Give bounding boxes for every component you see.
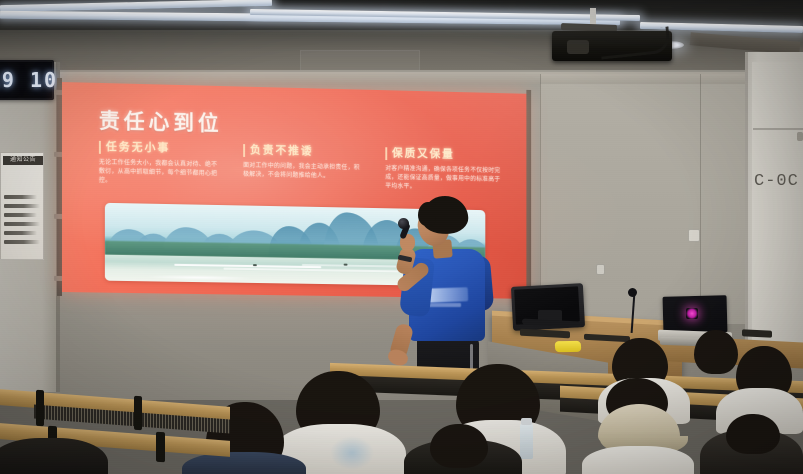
classroom-door[interactable]: [752, 62, 803, 352]
slide-title: 责任心到位: [99, 105, 223, 138]
slide-column-heading: 保质又保量: [385, 147, 502, 162]
slide-columns: 任务无小事 无论工作任务大小，我都会认真对待、绝不敷衍，从高中抓取细节，每个细节…: [99, 141, 503, 194]
audience-head: [694, 330, 738, 374]
desk-post: [156, 432, 165, 463]
wall-socket: [596, 264, 605, 275]
desk-post: [134, 396, 142, 431]
digital-clock: 19 10: [0, 60, 54, 100]
audience-head: [726, 414, 780, 454]
slide-column-heading: 任务无小事: [99, 141, 220, 157]
yellow-object-on-desk: [555, 341, 582, 352]
slide-column-body: 面对工作中的问题，我会主动承担责任，积极解决，不会将问题推给他人。: [243, 162, 362, 182]
ceiling-panel: [300, 50, 420, 72]
ceiling: [0, 0, 803, 74]
desk-post: [36, 390, 44, 427]
wall-socket: [688, 229, 700, 242]
slide-column-heading: 负责不推诿: [243, 144, 362, 159]
handheld-microphone: [398, 218, 409, 229]
door-handle[interactable]: [797, 132, 803, 141]
poster-title: 通知公告: [3, 156, 43, 165]
presenter: [392, 196, 504, 386]
slide-column: 任务无小事 无论工作任务大小，我都会认真对待、绝不敷衍，从高中抓取细节，每个细节…: [99, 141, 220, 188]
audience-body: [0, 438, 108, 474]
projector-lens: [567, 40, 589, 54]
presenter-hair-front: [418, 202, 436, 226]
audience-head: [430, 424, 488, 468]
slide-column-body: 对客户精准沟通，确保各项任务不仅按时完成，还能保证高质量，做事用中的标准高于平均…: [385, 165, 502, 194]
laptop-logo-icon: [686, 308, 698, 319]
water-bottle: [520, 423, 533, 459]
lecture-hall-photo: 通知公告 19 10 C-0C 责任心到位 任务无小事 无论工: [0, 0, 803, 474]
bottle-cap: [521, 418, 532, 425]
wall-notice-poster: 通知公告: [0, 152, 44, 260]
poster-text-lines: [4, 195, 42, 249]
screen-frame-right: [526, 90, 531, 303]
desk-object: [742, 329, 772, 338]
shirt-graphic-sub: [425, 303, 461, 307]
audience-body: [582, 446, 694, 474]
audience-body: [182, 452, 306, 474]
slide-column-body: 无论工作任务大小，我都会认真对待、绝不敷衍，从高中抓取细节，每个细节都用心把控。: [99, 159, 220, 188]
slide-column: 保质又保量 对客户精准沟通，确保各项任务不仅按时完成，还能保证高质量，做事用中的…: [385, 147, 502, 194]
slide-column: 负责不推诿 面对工作中的问题，我会主动承担责任，积极解决，不会将问题推给他人。: [243, 144, 362, 191]
room-number-label: C-0C: [754, 172, 803, 191]
shirt-print: [330, 436, 374, 470]
poster-header-bar: 通知公告: [3, 156, 43, 165]
door-rail: [753, 128, 803, 130]
gooseneck-microphone: [628, 288, 637, 297]
